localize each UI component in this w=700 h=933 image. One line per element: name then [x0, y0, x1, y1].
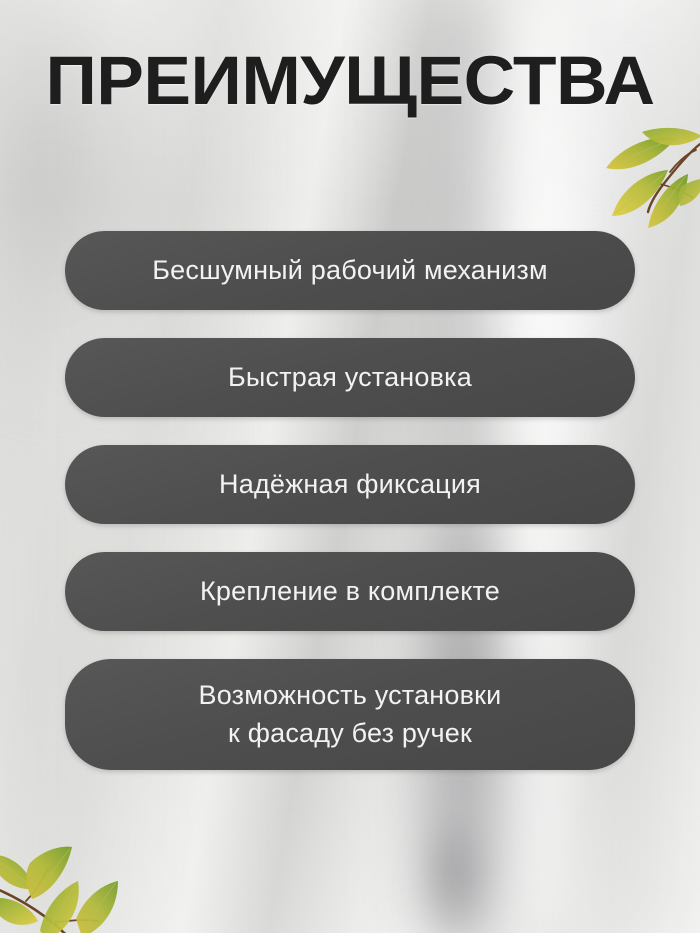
benefit-pill-2[interactable]: Быстрая установка — [65, 338, 635, 417]
benefit-label: Быстрая установка — [202, 362, 498, 393]
benefit-pill-3[interactable]: Надёжная фиксация — [65, 445, 635, 524]
benefit-label: Надёжная фиксация — [193, 469, 507, 500]
benefit-pill-4[interactable]: Крепление в комплекте — [65, 552, 635, 631]
benefit-label: Возможность установки к фасаду без ручек — [173, 677, 528, 752]
benefits-list: Бесшумный рабочий механизм Быстрая устан… — [65, 231, 635, 798]
benefit-pill-1[interactable]: Бесшумный рабочий механизм — [65, 231, 635, 310]
benefit-label: Бесшумный рабочий механизм — [126, 255, 574, 286]
page-title: ПРЕИМУЩЕСТВА — [0, 46, 700, 115]
benefit-label: Крепление в комплекте — [174, 576, 526, 607]
background-blob-foot — [420, 802, 490, 933]
leaf-branch-icon-top-right — [598, 124, 700, 240]
benefit-pill-5[interactable]: Возможность установки к фасаду без ручек — [65, 659, 635, 770]
leaf-branch-icon-bottom-left — [0, 833, 122, 933]
benefits-poster: ПРЕИМУЩЕСТВА Бесшумный рабочий механизм … — [0, 0, 700, 933]
